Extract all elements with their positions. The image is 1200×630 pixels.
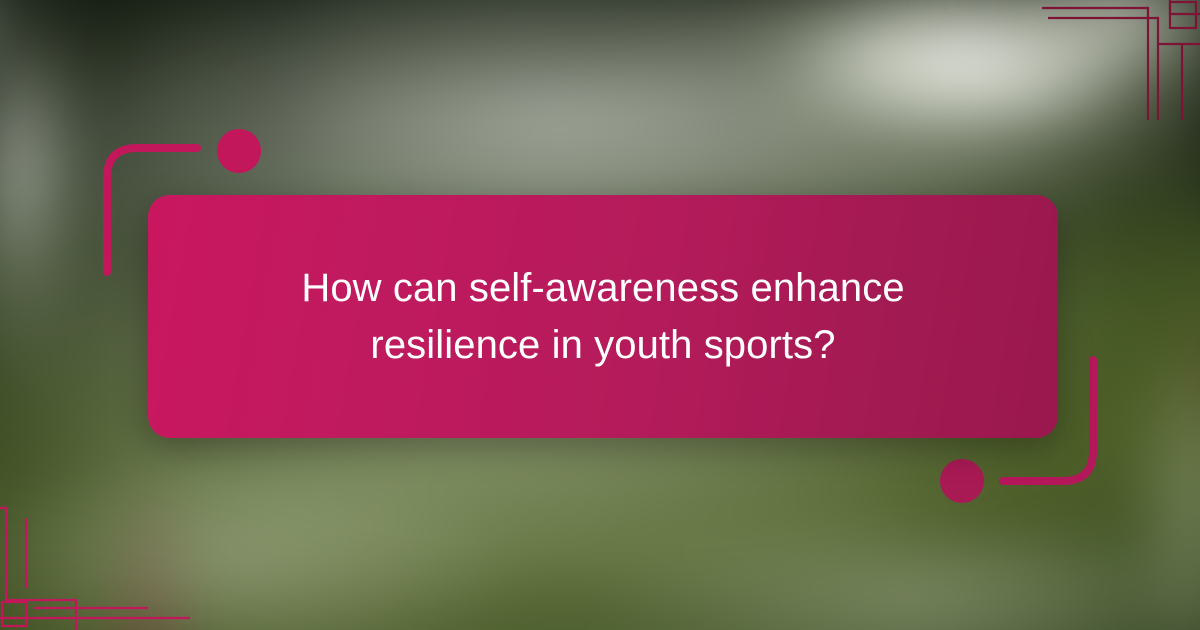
question-card: How can self-awareness enhance resilienc… — [148, 195, 1058, 438]
question-text: How can self-awareness enhance resilienc… — [273, 260, 933, 374]
question-card-canvas: How can self-awareness enhance resilienc… — [0, 0, 1200, 630]
